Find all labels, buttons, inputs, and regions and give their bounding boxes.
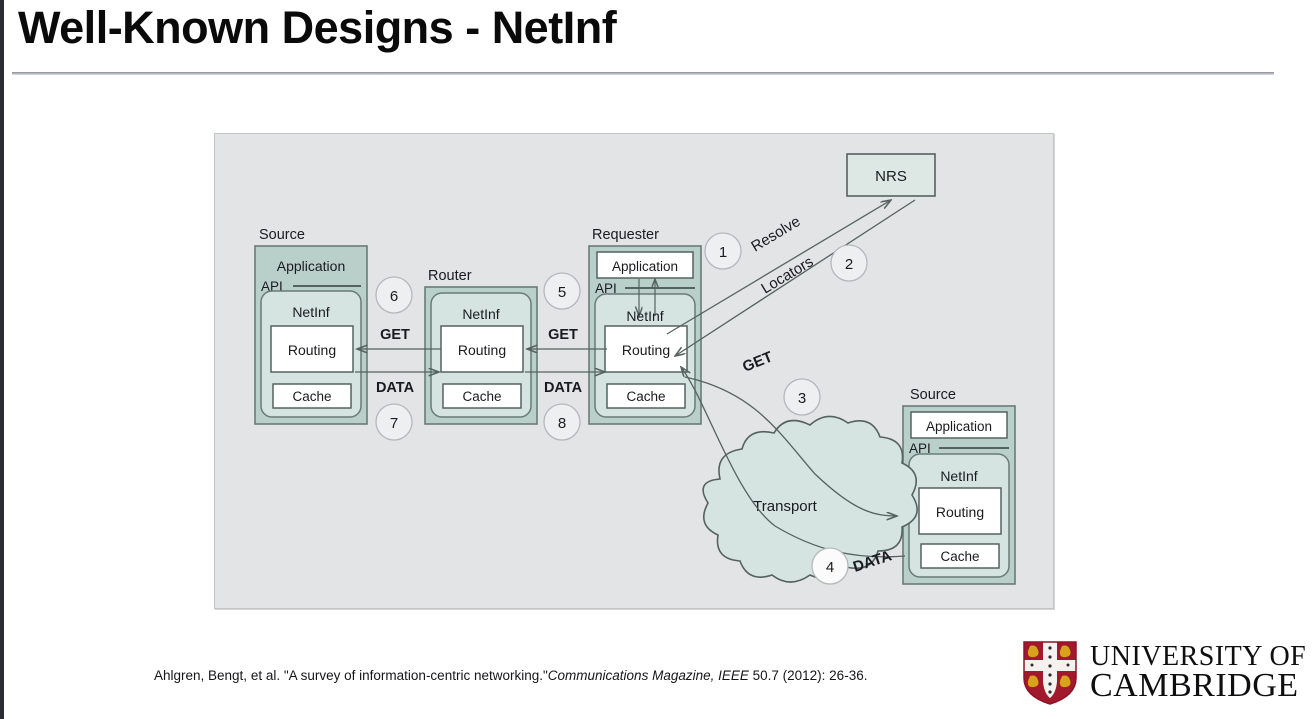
node-source-right: Application API NetInf Routing Cache: [903, 406, 1015, 584]
edge-label-data-source-router: DATA: [376, 380, 415, 396]
step-circle-2: 2: [831, 245, 867, 281]
step-number-8: 8: [558, 415, 566, 432]
step-circle-5: 5: [544, 273, 580, 309]
step-circle-1: 1: [705, 233, 741, 269]
source-left-cache-label: Cache: [292, 389, 331, 404]
edge-label-get-cloud: GET: [740, 348, 775, 375]
citation-journal: Communications Magazine, IEEE: [548, 668, 749, 683]
source-right-application-label: Application: [926, 419, 992, 434]
router-cache-label: Cache: [462, 389, 501, 404]
step-number-4: 4: [826, 559, 834, 576]
logo-line-2: CAMBRIDGE: [1090, 670, 1306, 701]
nrs-label: NRS: [875, 168, 907, 185]
router-title: Router: [428, 268, 472, 284]
cambridge-crest-icon: [1022, 640, 1078, 706]
slide-root: Well-Known Designs - NetInf NRS Source: [0, 0, 1312, 719]
source-right-netinf-label: NetInf: [940, 468, 977, 484]
edge-label-get-source-router: GET: [380, 327, 410, 343]
requester-title: Requester: [592, 227, 659, 243]
edge-label-resolve: Resolve: [748, 213, 803, 255]
edge-label-get-router-requester: GET: [548, 327, 578, 343]
figure-citation: Ahlgren, Bengt, et al. "A survey of info…: [154, 668, 867, 683]
step-circle-7: 7: [376, 404, 412, 440]
step-number-2: 2: [845, 256, 853, 273]
transport-label: Transport: [753, 498, 817, 515]
source-right-cache-label: Cache: [940, 549, 979, 564]
step-circle-3: 3: [784, 379, 820, 415]
step-number-5: 5: [558, 284, 566, 301]
citation-text-2: 50.7 (2012): 26-36.: [749, 668, 868, 683]
node-requester: Application API NetInf Routing Cache: [589, 246, 701, 424]
node-source-left: Application API NetInf Routing Cache: [255, 246, 367, 424]
source-right-title: Source: [910, 387, 956, 403]
node-nrs: NRS: [847, 154, 935, 196]
source-left-netinf-label: NetInf: [292, 304, 329, 320]
source-left-title: Source: [259, 227, 305, 243]
netinf-diagram-svg: NRS Source Application API NetInf Routin…: [215, 134, 1053, 608]
requester-cache-label: Cache: [626, 389, 665, 404]
university-logo: UNIVERSITY OF CAMBRIDGE: [1022, 640, 1306, 706]
edge-label-data-router-requester: DATA: [544, 380, 583, 396]
netinf-architecture-figure: NRS Source Application API NetInf Routin…: [214, 133, 1054, 609]
step-number-3: 3: [798, 390, 806, 407]
step-circle-6: 6: [376, 277, 412, 313]
step-number-1: 1: [719, 244, 727, 261]
citation-text-1: Ahlgren, Bengt, et al. "A survey of info…: [154, 668, 548, 683]
requester-netinf-label: NetInf: [626, 308, 663, 324]
title-divider: [12, 72, 1274, 75]
step-number-6: 6: [390, 288, 398, 305]
requester-application-label: Application: [612, 259, 678, 274]
source-right-routing-label: Routing: [936, 504, 984, 520]
step-number-7: 7: [390, 415, 398, 432]
requester-routing-label: Routing: [622, 342, 670, 358]
logo-wordmark: UNIVERSITY OF CAMBRIDGE: [1090, 644, 1306, 701]
step-circle-4: 4: [812, 548, 848, 584]
page-title: Well-Known Designs - NetInf: [18, 2, 616, 54]
edge-label-locators: Locators: [758, 253, 816, 297]
router-netinf-label: NetInf: [462, 306, 499, 322]
source-left-routing-label: Routing: [288, 342, 336, 358]
node-router: NetInf Routing Cache: [425, 287, 537, 424]
step-circle-8: 8: [544, 404, 580, 440]
router-routing-label: Routing: [458, 342, 506, 358]
source-left-application-label: Application: [277, 258, 346, 274]
